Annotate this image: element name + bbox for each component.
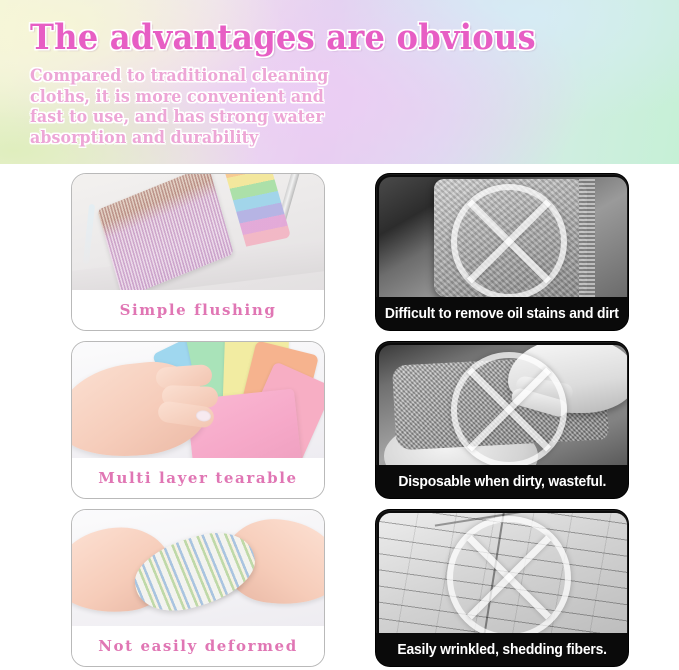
prohibition-mark-icon — [451, 184, 567, 299]
con-caption: Easily wrinkled, shedding fibers. — [376, 633, 628, 666]
comparison-grid: Simple flushing — [0, 164, 679, 670]
pro-photo-not-easily-deformed — [72, 510, 324, 628]
product-infographic: The advantages are obvious Compared to t… — [0, 0, 679, 670]
con-card-wrinkled: Easily wrinkled, shedding fibers. — [375, 509, 629, 667]
con-caption: Difficult to remove oil stains and dirt — [376, 297, 628, 330]
pro-card-not-easily-deformed: Not easily deformed — [71, 509, 325, 667]
fingernail — [195, 409, 211, 422]
pro-caption: Not easily deformed — [72, 626, 324, 666]
con-photo-oil-stains — [379, 177, 627, 299]
prohibition-mark-icon — [447, 516, 571, 635]
pro-caption: Simple flushing — [72, 290, 324, 330]
towel-fringe — [579, 179, 595, 296]
header-text-block: The advantages are obvious Compared to t… — [30, 18, 650, 148]
con-card-oil-stains: Difficult to remove oil stains and dirt — [375, 173, 629, 331]
con-photo-disposable — [379, 345, 627, 467]
pro-caption: Multi layer tearable — [72, 458, 324, 498]
pro-card-simple-flushing: Simple flushing — [71, 173, 325, 331]
prohibition-mark-icon — [451, 352, 567, 467]
pro-card-multi-layer-tearable: Multi layer tearable — [71, 341, 325, 499]
page-title: The advantages are obvious — [30, 18, 600, 58]
pro-photo-multi-layer-tearable — [72, 342, 324, 460]
header-banner: The advantages are obvious Compared to t… — [0, 0, 679, 164]
con-card-disposable: Disposable when dirty, wasteful. — [375, 341, 629, 499]
pro-photo-simple-flushing — [72, 174, 324, 292]
page-subtitle: Compared to traditional cleaning cloths,… — [30, 66, 337, 148]
con-caption: Disposable when dirty, wasteful. — [376, 465, 628, 498]
con-photo-wrinkled — [379, 513, 627, 635]
